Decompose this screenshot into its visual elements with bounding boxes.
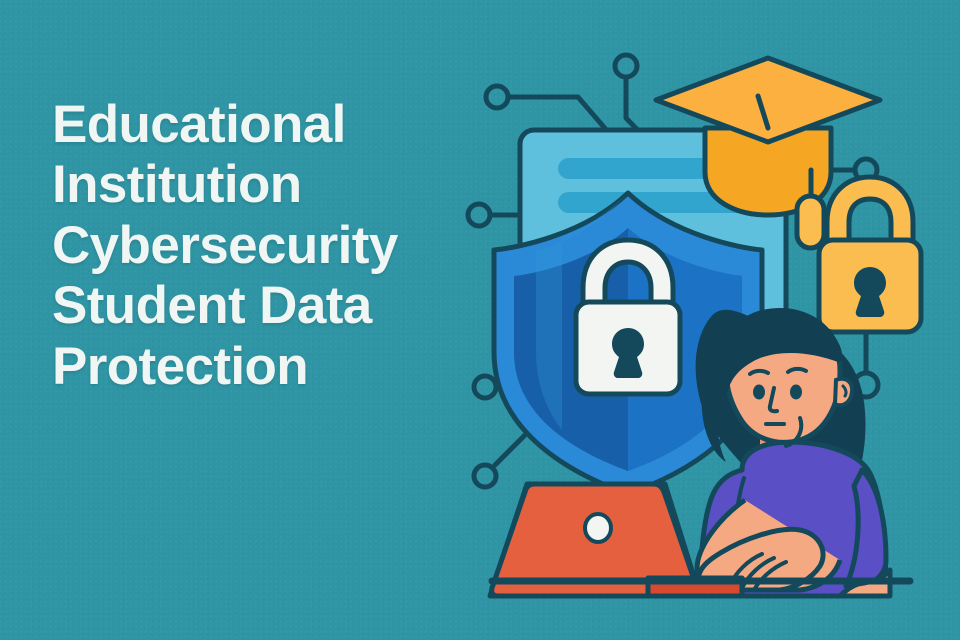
- illustration: [0, 0, 960, 640]
- student-figure-icon: [696, 308, 890, 596]
- padlock-icon: [819, 177, 921, 332]
- eye-right: [790, 385, 802, 400]
- laptop-logo: [585, 514, 611, 542]
- lock-icon: [576, 240, 680, 394]
- padlock-keyhole: [854, 267, 886, 317]
- lock-keyhole: [612, 328, 644, 378]
- poster-canvas: Educational Institution Cybersecurity St…: [0, 0, 960, 640]
- cap-tassel: [797, 196, 824, 248]
- eye-left: [753, 385, 765, 400]
